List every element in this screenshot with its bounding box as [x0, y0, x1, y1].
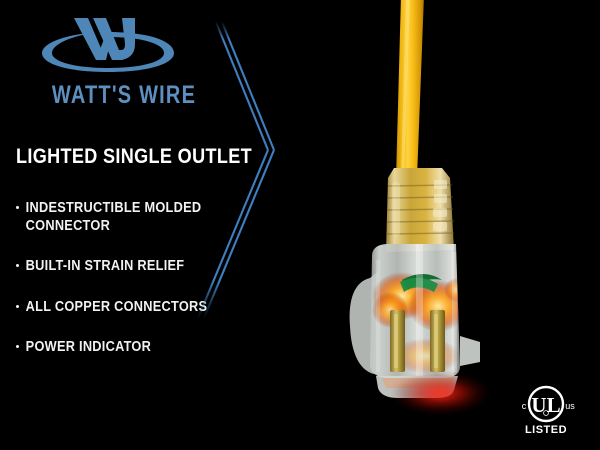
feature-list: INDESTRUCTIBLE MOLDED CONNECTOR BUILT-IN…	[16, 200, 256, 380]
svg-text:LISTED: LISTED	[525, 424, 567, 436]
brand-lockup: WATT'S WIRE	[14, 14, 234, 114]
ul-listed-mark: UL c us LISTED	[508, 382, 584, 438]
watts-wire-w-swoosh-logo	[38, 14, 178, 76]
feature-line: BUILT-IN STRAIN RELIEF	[16, 258, 227, 276]
promo-banner: WATT'S WIRE LIGHTED SINGLE OUTLET INDEST…	[0, 0, 600, 450]
list-item: BUILT-IN STRAIN RELIEF	[16, 258, 256, 276]
list-item: ALL COPPER CONNECTORS	[16, 299, 256, 317]
list-item: INDESTRUCTIBLE MOLDED CONNECTOR	[16, 200, 256, 235]
red-led-glow	[345, 348, 535, 438]
feature-line: POWER INDICATOR	[16, 339, 227, 357]
svg-text:us: us	[565, 401, 575, 411]
feature-line: CONNECTOR	[16, 218, 227, 236]
list-item: POWER INDICATOR	[16, 339, 256, 357]
brand-wordmark: WATT'S WIRE	[36, 82, 212, 108]
svg-text:c: c	[522, 401, 527, 411]
feature-line: ALL COPPER CONNECTORS	[16, 299, 227, 317]
svg-text:UL: UL	[531, 393, 560, 417]
page-title: LIGHTED SINGLE OUTLET	[16, 145, 252, 169]
feature-line: INDESTRUCTIBLE MOLDED	[16, 200, 227, 218]
